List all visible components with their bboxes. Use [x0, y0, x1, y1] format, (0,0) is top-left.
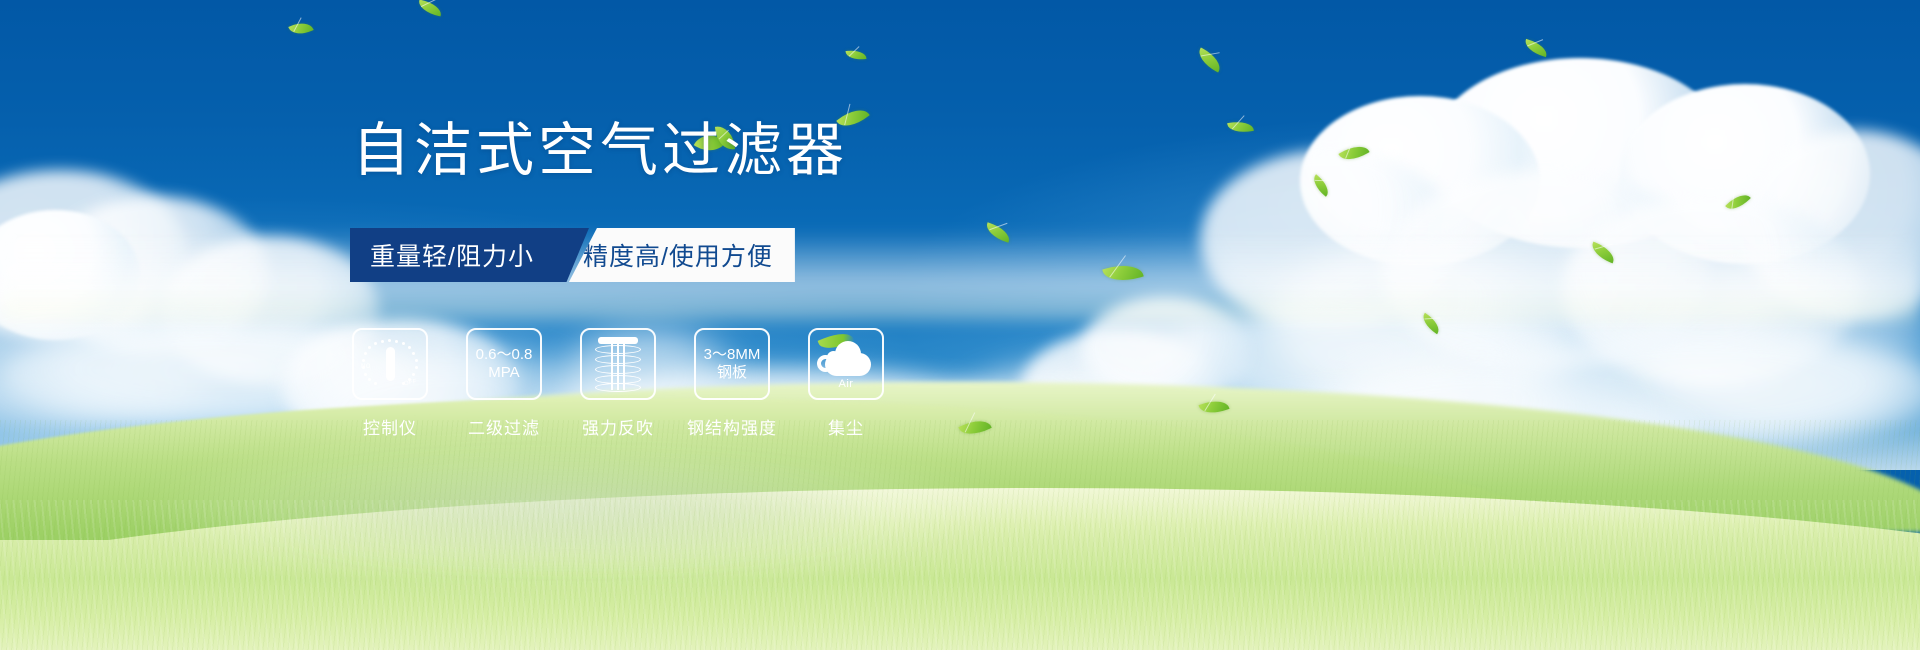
feature-item-pressure: 0.6～0.8 MPA 二级过滤 — [466, 328, 542, 439]
feature-caption-dust: 集尘 — [828, 414, 864, 439]
hero-banner: 自洁式空气过滤器 重量轻/阻力小 精度高/使用方便 — [0, 0, 1920, 650]
badge-primary: 重量轻/阻力小 — [350, 228, 556, 282]
feature-box-controller: NO OFF — [352, 328, 428, 400]
pressure-value: 0.6～0.8 — [476, 346, 533, 364]
coil-icon — [595, 337, 641, 391]
feature-box-pressure: 0.6～0.8 MPA — [466, 328, 542, 400]
badge-secondary: 精度高/使用方便 — [569, 228, 795, 282]
feature-item-steel: 3～8MM 钢板 钢结构强度 — [694, 328, 770, 439]
steel-thickness: 3～8MM — [704, 346, 761, 364]
air-label: Air — [815, 378, 877, 390]
feature-item-dust: Air 集尘 — [808, 328, 884, 439]
feature-box-steel: 3～8MM 钢板 — [694, 328, 770, 400]
feature-caption-blowback: 强力反吹 — [582, 414, 654, 439]
gauge-label-no: NO — [361, 364, 371, 370]
feature-box-dust: Air — [808, 328, 884, 400]
tagline-badges: 重量轻/阻力小 精度高/使用方便 — [350, 228, 795, 282]
steel-material: 钢板 — [717, 364, 747, 382]
gauge-icon: NO OFF — [362, 338, 418, 390]
feature-item-controller: NO OFF 控制仪 — [352, 328, 428, 439]
feature-box-blowback — [580, 328, 656, 400]
air-cloud-icon: Air — [815, 340, 877, 388]
feature-caption-controller: 控制仪 — [363, 414, 417, 439]
feature-icon-row: NO OFF 控制仪 0.6～0.8 MPA 二级过滤 — [352, 328, 884, 439]
feature-caption-steel: 钢结构强度 — [687, 414, 777, 439]
feature-item-blowback: 强力反吹 — [580, 328, 656, 439]
gauge-label-off: OFF — [403, 379, 417, 388]
pressure-unit: MPA — [488, 364, 519, 382]
page-title: 自洁式空气过滤器 — [352, 120, 848, 182]
feature-caption-pressure: 二级过滤 — [468, 414, 540, 439]
banner-content: 自洁式空气过滤器 重量轻/阻力小 精度高/使用方便 — [0, 0, 1920, 650]
